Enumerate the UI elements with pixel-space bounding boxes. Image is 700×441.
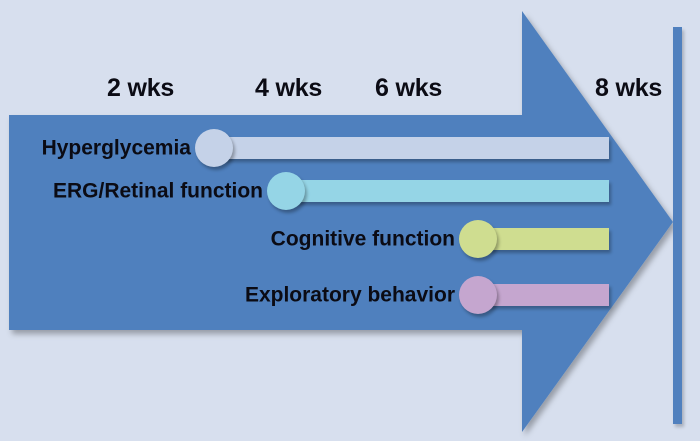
week-label-6wks: 6 wks	[375, 76, 442, 101]
timeline-row-label-exploratory-behavior: Exploratory behavior	[245, 285, 455, 306]
timeline-row-label-erg-retinal-function: ERG/Retinal function	[53, 181, 263, 202]
week-label-8wks: 8 wks	[595, 76, 662, 101]
timeline-row-label-cognitive-function: Cognitive function	[271, 229, 455, 250]
timeline-bar-exploratory-behavior	[478, 284, 609, 306]
timeline-marker-erg-retinal-function	[267, 172, 305, 210]
timeline-row-label-hyperglycemia: Hyperglycemia	[42, 138, 191, 159]
week-label-4wks: 4 wks	[255, 76, 322, 101]
timeline-bar-hyperglycemia	[214, 137, 609, 159]
timeline-marker-cognitive-function	[459, 220, 497, 258]
timeline-bar-cognitive-function	[478, 228, 609, 250]
timeline-row-cognitive-function: Cognitive function	[459, 217, 609, 261]
timeline-row-hyperglycemia: Hyperglycemia	[195, 126, 609, 170]
timeline-marker-hyperglycemia	[195, 129, 233, 167]
timeline-row-erg-retinal-function: ERG/Retinal function	[267, 169, 609, 213]
timeline-marker-exploratory-behavior	[459, 276, 497, 314]
timeline-bar-erg-retinal-function	[286, 180, 609, 202]
timeline-row-exploratory-behavior: Exploratory behavior	[459, 273, 609, 317]
week-label-2wks: 2 wks	[107, 76, 174, 101]
figure-canvas: 2 wks 4 wks 6 wks 8 wks Hyperglycemia ER…	[0, 0, 700, 441]
study-endpoint-rule	[673, 27, 682, 424]
